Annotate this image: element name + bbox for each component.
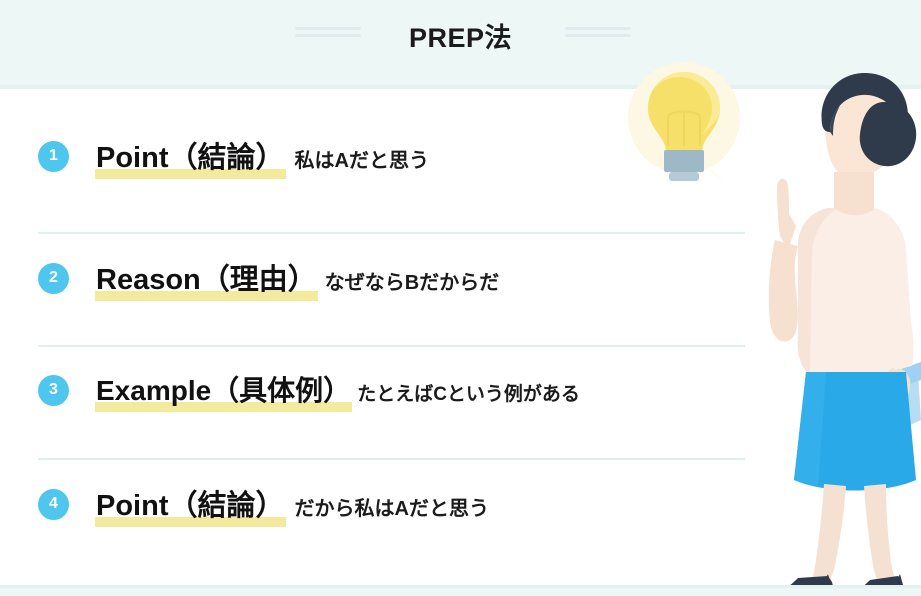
woman-pointing-up-illustration (769, 73, 921, 596)
row-term-2: Reason（理由） (95, 256, 318, 300)
row-desc-3: たとえばCという例がある (357, 379, 580, 406)
step-badge-1: 1 (38, 141, 69, 172)
row-body-2: Reason（理由） なぜならBだからだ (95, 256, 499, 300)
row-term-1: Point（結論） (95, 134, 286, 178)
step-badge-4: 4 (38, 489, 69, 520)
slide-root: PREP法 1 Point（結論） 私はAだと思う 2 Reason（理由） な… (0, 0, 921, 596)
row-desc-2: なぜならBだからだ (325, 266, 499, 295)
row-body-3: Example（具体例） たとえばCという例がある (95, 369, 580, 411)
row-term-3: Example（具体例） (95, 369, 352, 411)
step-badge-2: 2 (38, 263, 69, 294)
row-body-4: Point（結論） だから私はAだと思う (95, 482, 489, 526)
illustration-group (612, 50, 921, 596)
row-term-4: Point（結論） (95, 482, 286, 526)
footer-band-edge (0, 585, 921, 588)
step-badge-3: 3 (38, 375, 69, 406)
row-desc-4: だから私はAだと思う (295, 492, 489, 521)
row-desc-1: 私はAだと思う (295, 144, 429, 173)
row-body-1: Point（結論） 私はAだと思う (95, 134, 429, 178)
